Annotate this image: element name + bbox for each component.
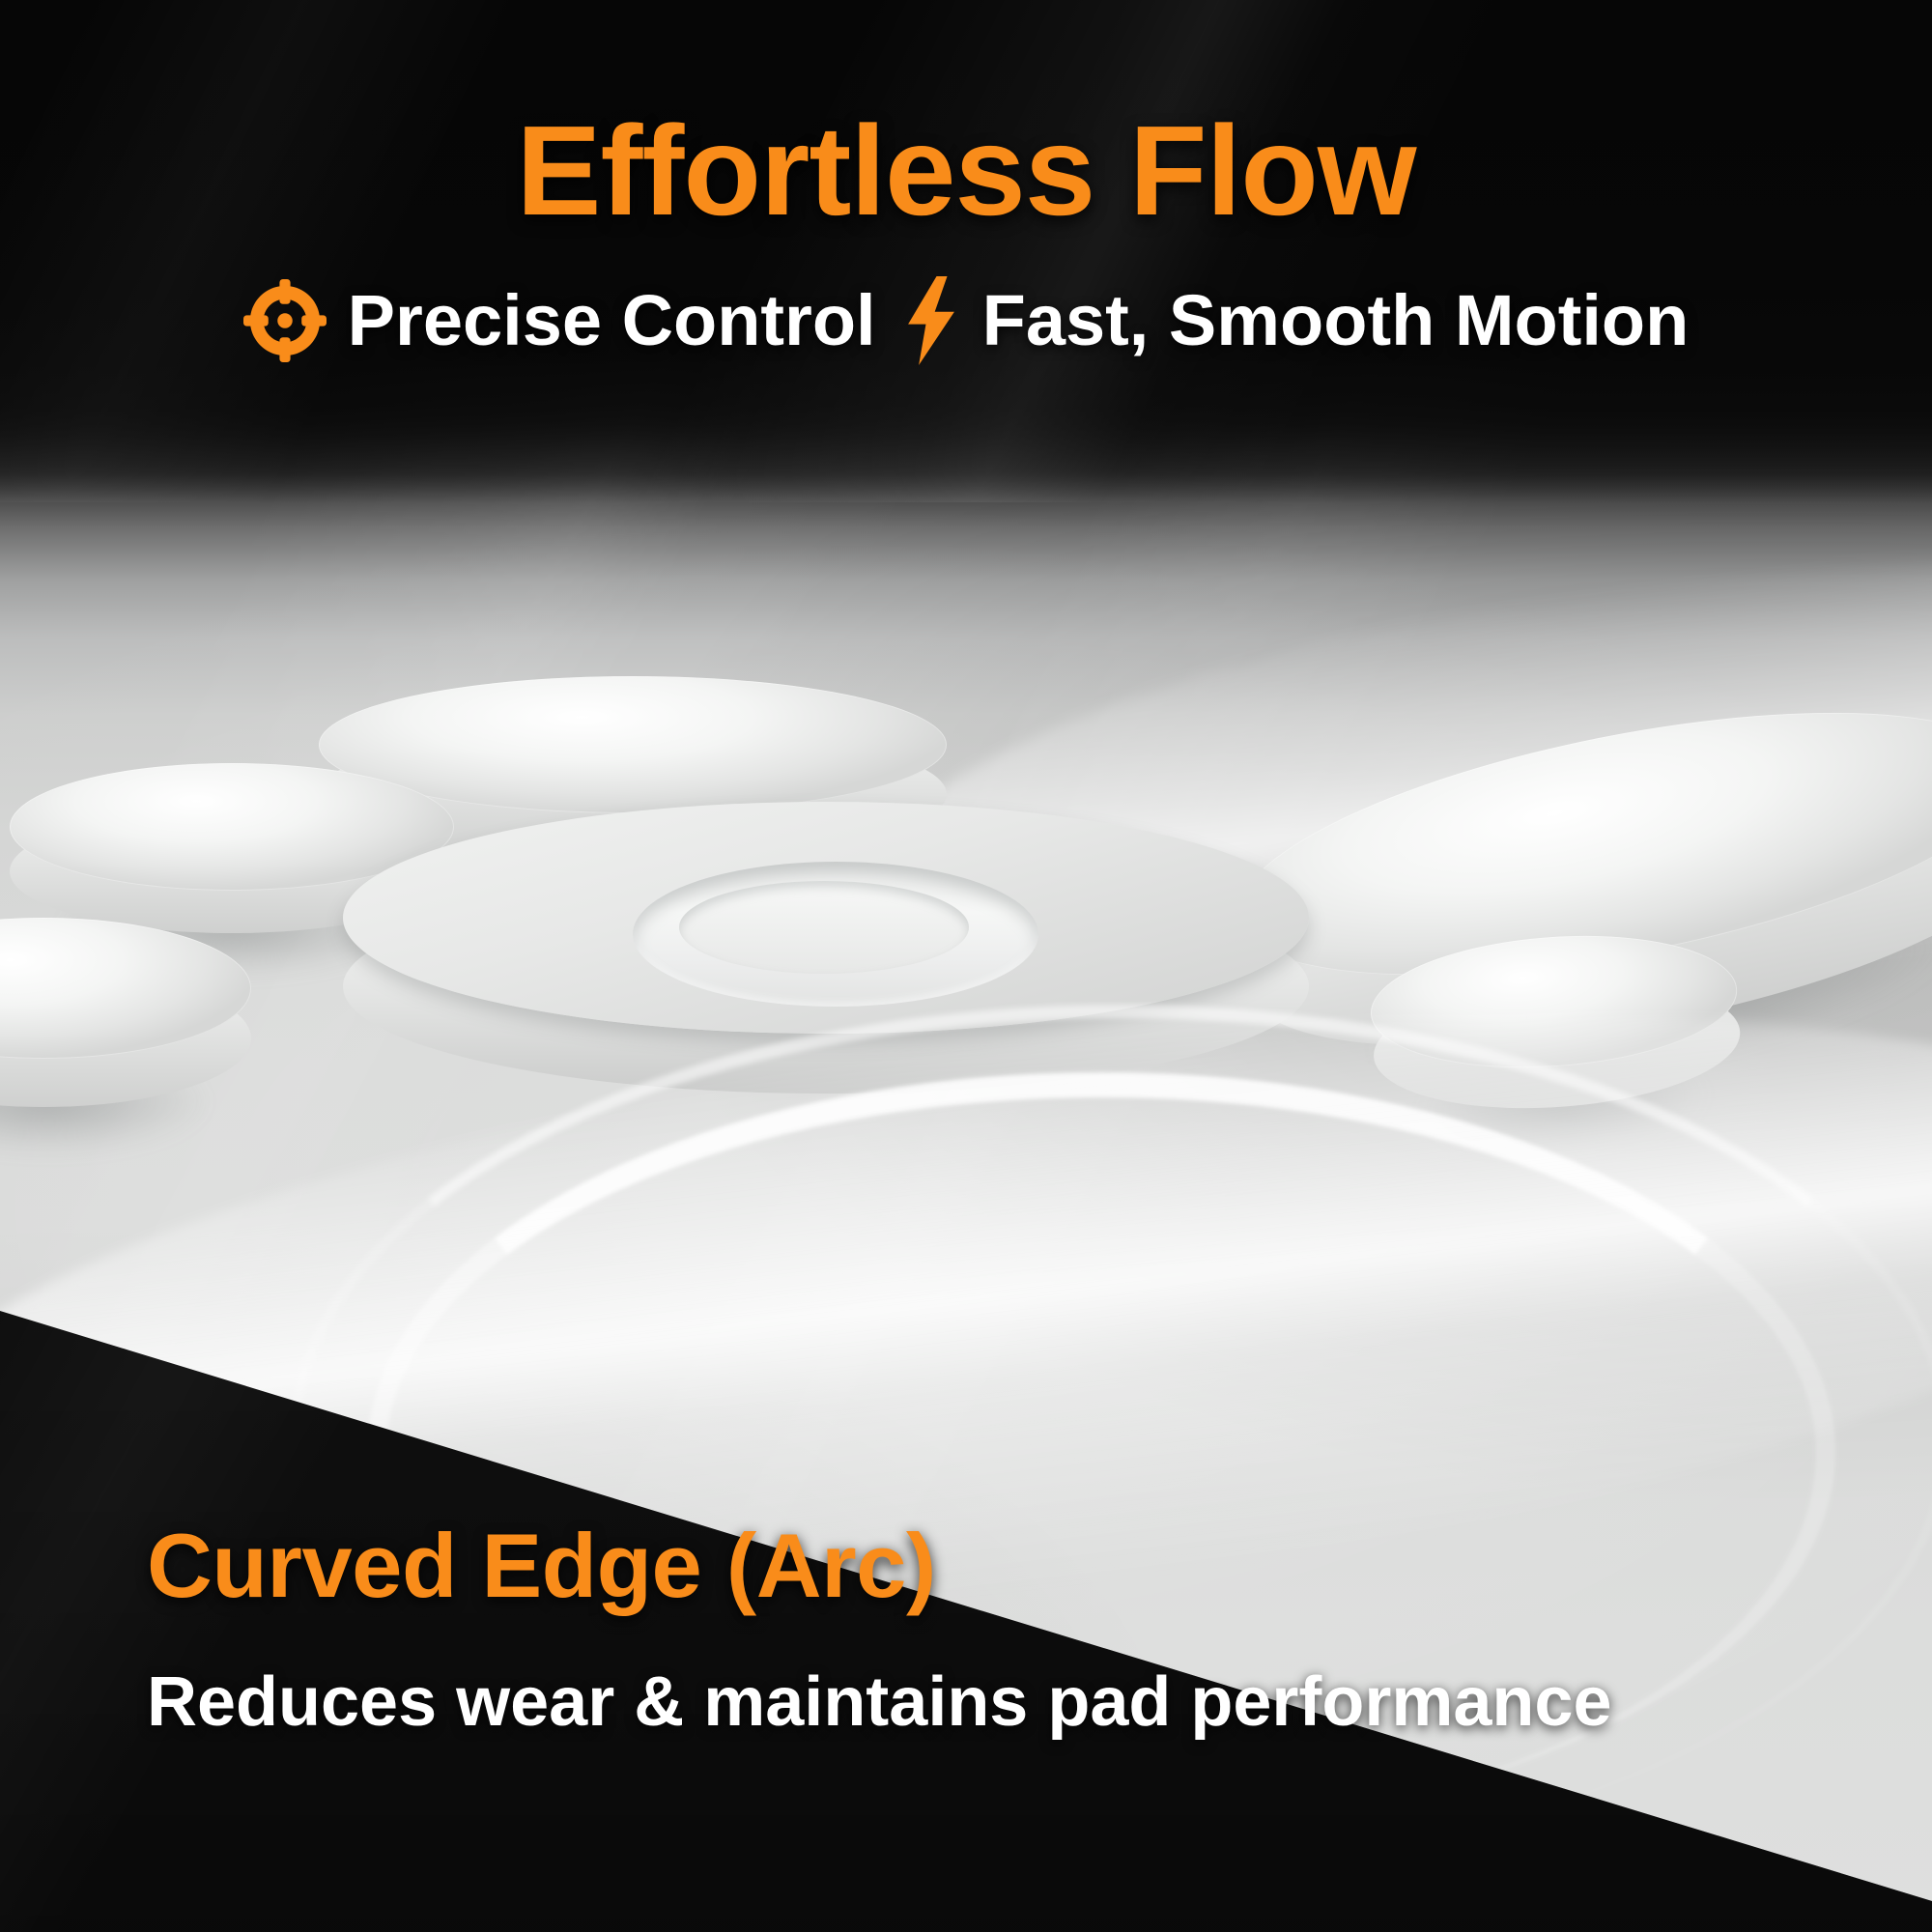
feature-item-precise-control: Precise Control [243, 279, 876, 362]
footer-text-block: Curved Edge (Arc) Reduces wear & maintai… [147, 1519, 1837, 1741]
footer-subtitle: Reduces wear & maintains pad performance [147, 1664, 1837, 1741]
headline: Effortless Flow [0, 104, 1932, 239]
footer-title: Curved Edge (Arc) [147, 1519, 1837, 1614]
crosshair-target-icon [243, 279, 327, 362]
top-dark-band [0, 0, 1932, 502]
ring-pad-centre-hole-inner [679, 881, 969, 974]
lightning-bolt-icon [901, 276, 961, 365]
feature-row: Precise Control Fast, Smooth Motion [0, 276, 1932, 365]
feature-item-fast-smooth-motion: Fast, Smooth Motion [901, 276, 1690, 365]
feature-label-fast-smooth-motion: Fast, Smooth Motion [982, 285, 1690, 356]
product-feature-banner: Effortless Flow Precise Control [0, 0, 1932, 1932]
feature-label-precise-control: Precise Control [348, 285, 876, 356]
